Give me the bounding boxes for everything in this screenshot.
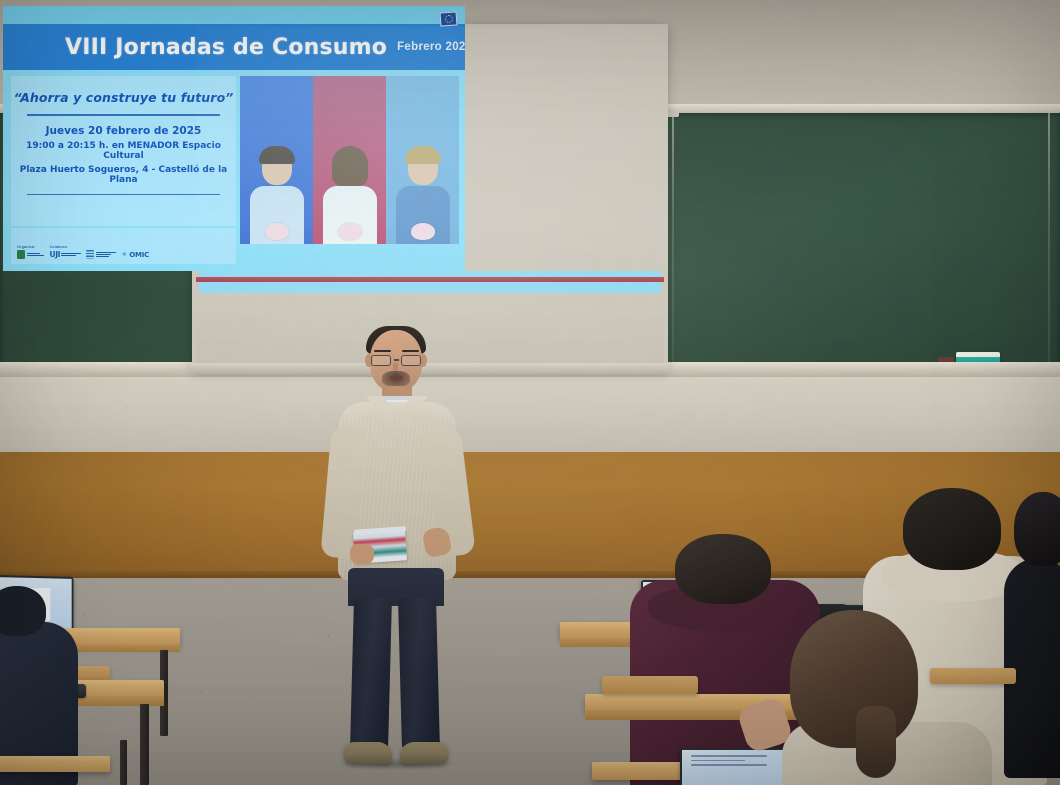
student-head [675, 534, 771, 604]
collaborator-caption: Colabora: [50, 245, 150, 249]
organizer-logos [17, 250, 44, 259]
logo-omic: ✶ OMIC [121, 250, 149, 259]
presenter-shoe-left [344, 742, 392, 764]
presenter-hand-left [350, 544, 374, 564]
collaborator-logos: UJI [50, 250, 150, 259]
omic-wordmark: OMIC [129, 251, 149, 259]
person-hair [258, 146, 294, 164]
presenter-leg-right [398, 598, 440, 751]
slide-title-date: Febrero 2025 [397, 41, 465, 53]
organizer-caption: Organiza: [17, 245, 44, 249]
student-head [1014, 492, 1060, 566]
screen-text-line [691, 755, 766, 757]
collage-panel-red [313, 76, 386, 244]
presentation-slide: VIII Jornadas de Consumo Febrero 2025 “A… [3, 6, 465, 271]
collage-person-center [322, 151, 376, 244]
chair-back[interactable] [602, 676, 698, 694]
slide-photo-collage [240, 76, 459, 244]
student-ponytail-hair [856, 706, 896, 778]
collaborator-group: Colabora: UJI [50, 245, 150, 259]
presenter [318, 330, 478, 785]
omic-star-icon: ✶ [121, 250, 128, 259]
student-head [0, 586, 46, 636]
uji-wordmark: UJI [50, 250, 60, 259]
logo-uji: UJI [50, 250, 82, 259]
student-head [903, 488, 1001, 570]
slide-time-venue-line: 19:00 a 20:15 h. en MENADOR Espacio Cult… [11, 141, 236, 161]
student-ponytail [760, 610, 990, 785]
slide-footer-stripe [196, 277, 664, 282]
glasses-lens [401, 355, 421, 366]
piggy-bank-icon [264, 223, 288, 240]
generalitat-wordmark [96, 252, 116, 258]
collage-panel-lightblue [386, 76, 459, 244]
student-dark-curly [1004, 492, 1060, 782]
divider [27, 114, 220, 116]
student-head [790, 610, 918, 748]
generalitat-bars-icon [86, 250, 94, 259]
divider [27, 194, 220, 196]
mid-wall [0, 377, 1060, 453]
logo-castello [17, 250, 44, 259]
slide-slogan: “Ahorra y construye tu futuro” [11, 90, 236, 105]
person-hair [331, 146, 367, 186]
desk [0, 756, 110, 772]
eu-stars-icon [444, 15, 453, 24]
slide-title-bar: VIII Jornadas de Consumo Febrero 2025 [3, 24, 465, 70]
slide-footer-area [199, 271, 661, 293]
person-head [407, 151, 437, 185]
screen-text-line [691, 760, 744, 762]
slide-address-line: Plaza Huerto Sogueros, 4 - Castelló de l… [11, 165, 236, 185]
castello-crest-icon [17, 250, 25, 259]
organizer-group: Organiza: [17, 245, 44, 259]
chalkboard-seam [672, 113, 674, 365]
person-head [261, 151, 291, 185]
slide-info-panel: “Ahorra y construye tu futuro” Jueves 20… [11, 76, 236, 226]
piggy-bank-icon [337, 223, 361, 240]
collage-person-right [395, 151, 449, 244]
slide-title: VIII Jornadas de Consumo [65, 35, 387, 60]
wordmark-line [96, 252, 116, 254]
castello-wordmark [27, 253, 44, 257]
chalkboard-seam [1048, 113, 1050, 365]
slide-date-line: Jueves 20 febrero de 2025 [11, 125, 236, 137]
chalkboard-seam-cap [667, 110, 679, 117]
presenter-shoe-right [400, 742, 448, 764]
person-head [334, 151, 364, 185]
eu-flag-icon [440, 11, 458, 26]
collage-person-left [249, 151, 303, 244]
lecture-hall-photo: Hₓ VIII Jornadas de Consumo Febrero 2025… [0, 0, 1060, 785]
logo-generalitat-valenciana [86, 250, 116, 259]
glasses-lens [371, 355, 391, 366]
desk-leg [120, 740, 127, 785]
mid-wall-texture [0, 377, 1060, 453]
person-hair [404, 146, 440, 164]
slide-logo-row: Organiza: Colabora: UJI [11, 228, 236, 264]
screen-text-line [691, 764, 766, 766]
collage-panel-blue [240, 76, 313, 244]
wordmark-line [61, 255, 76, 257]
slide-top-band [3, 6, 465, 24]
piggy-bank-icon [410, 223, 434, 240]
wordmark-line [27, 255, 44, 257]
uji-subtext [61, 253, 81, 257]
desk-leg [140, 704, 149, 785]
presenter-leg-left [350, 598, 392, 751]
wordmark-line [96, 256, 109, 258]
glasses-bridge [394, 359, 399, 360]
